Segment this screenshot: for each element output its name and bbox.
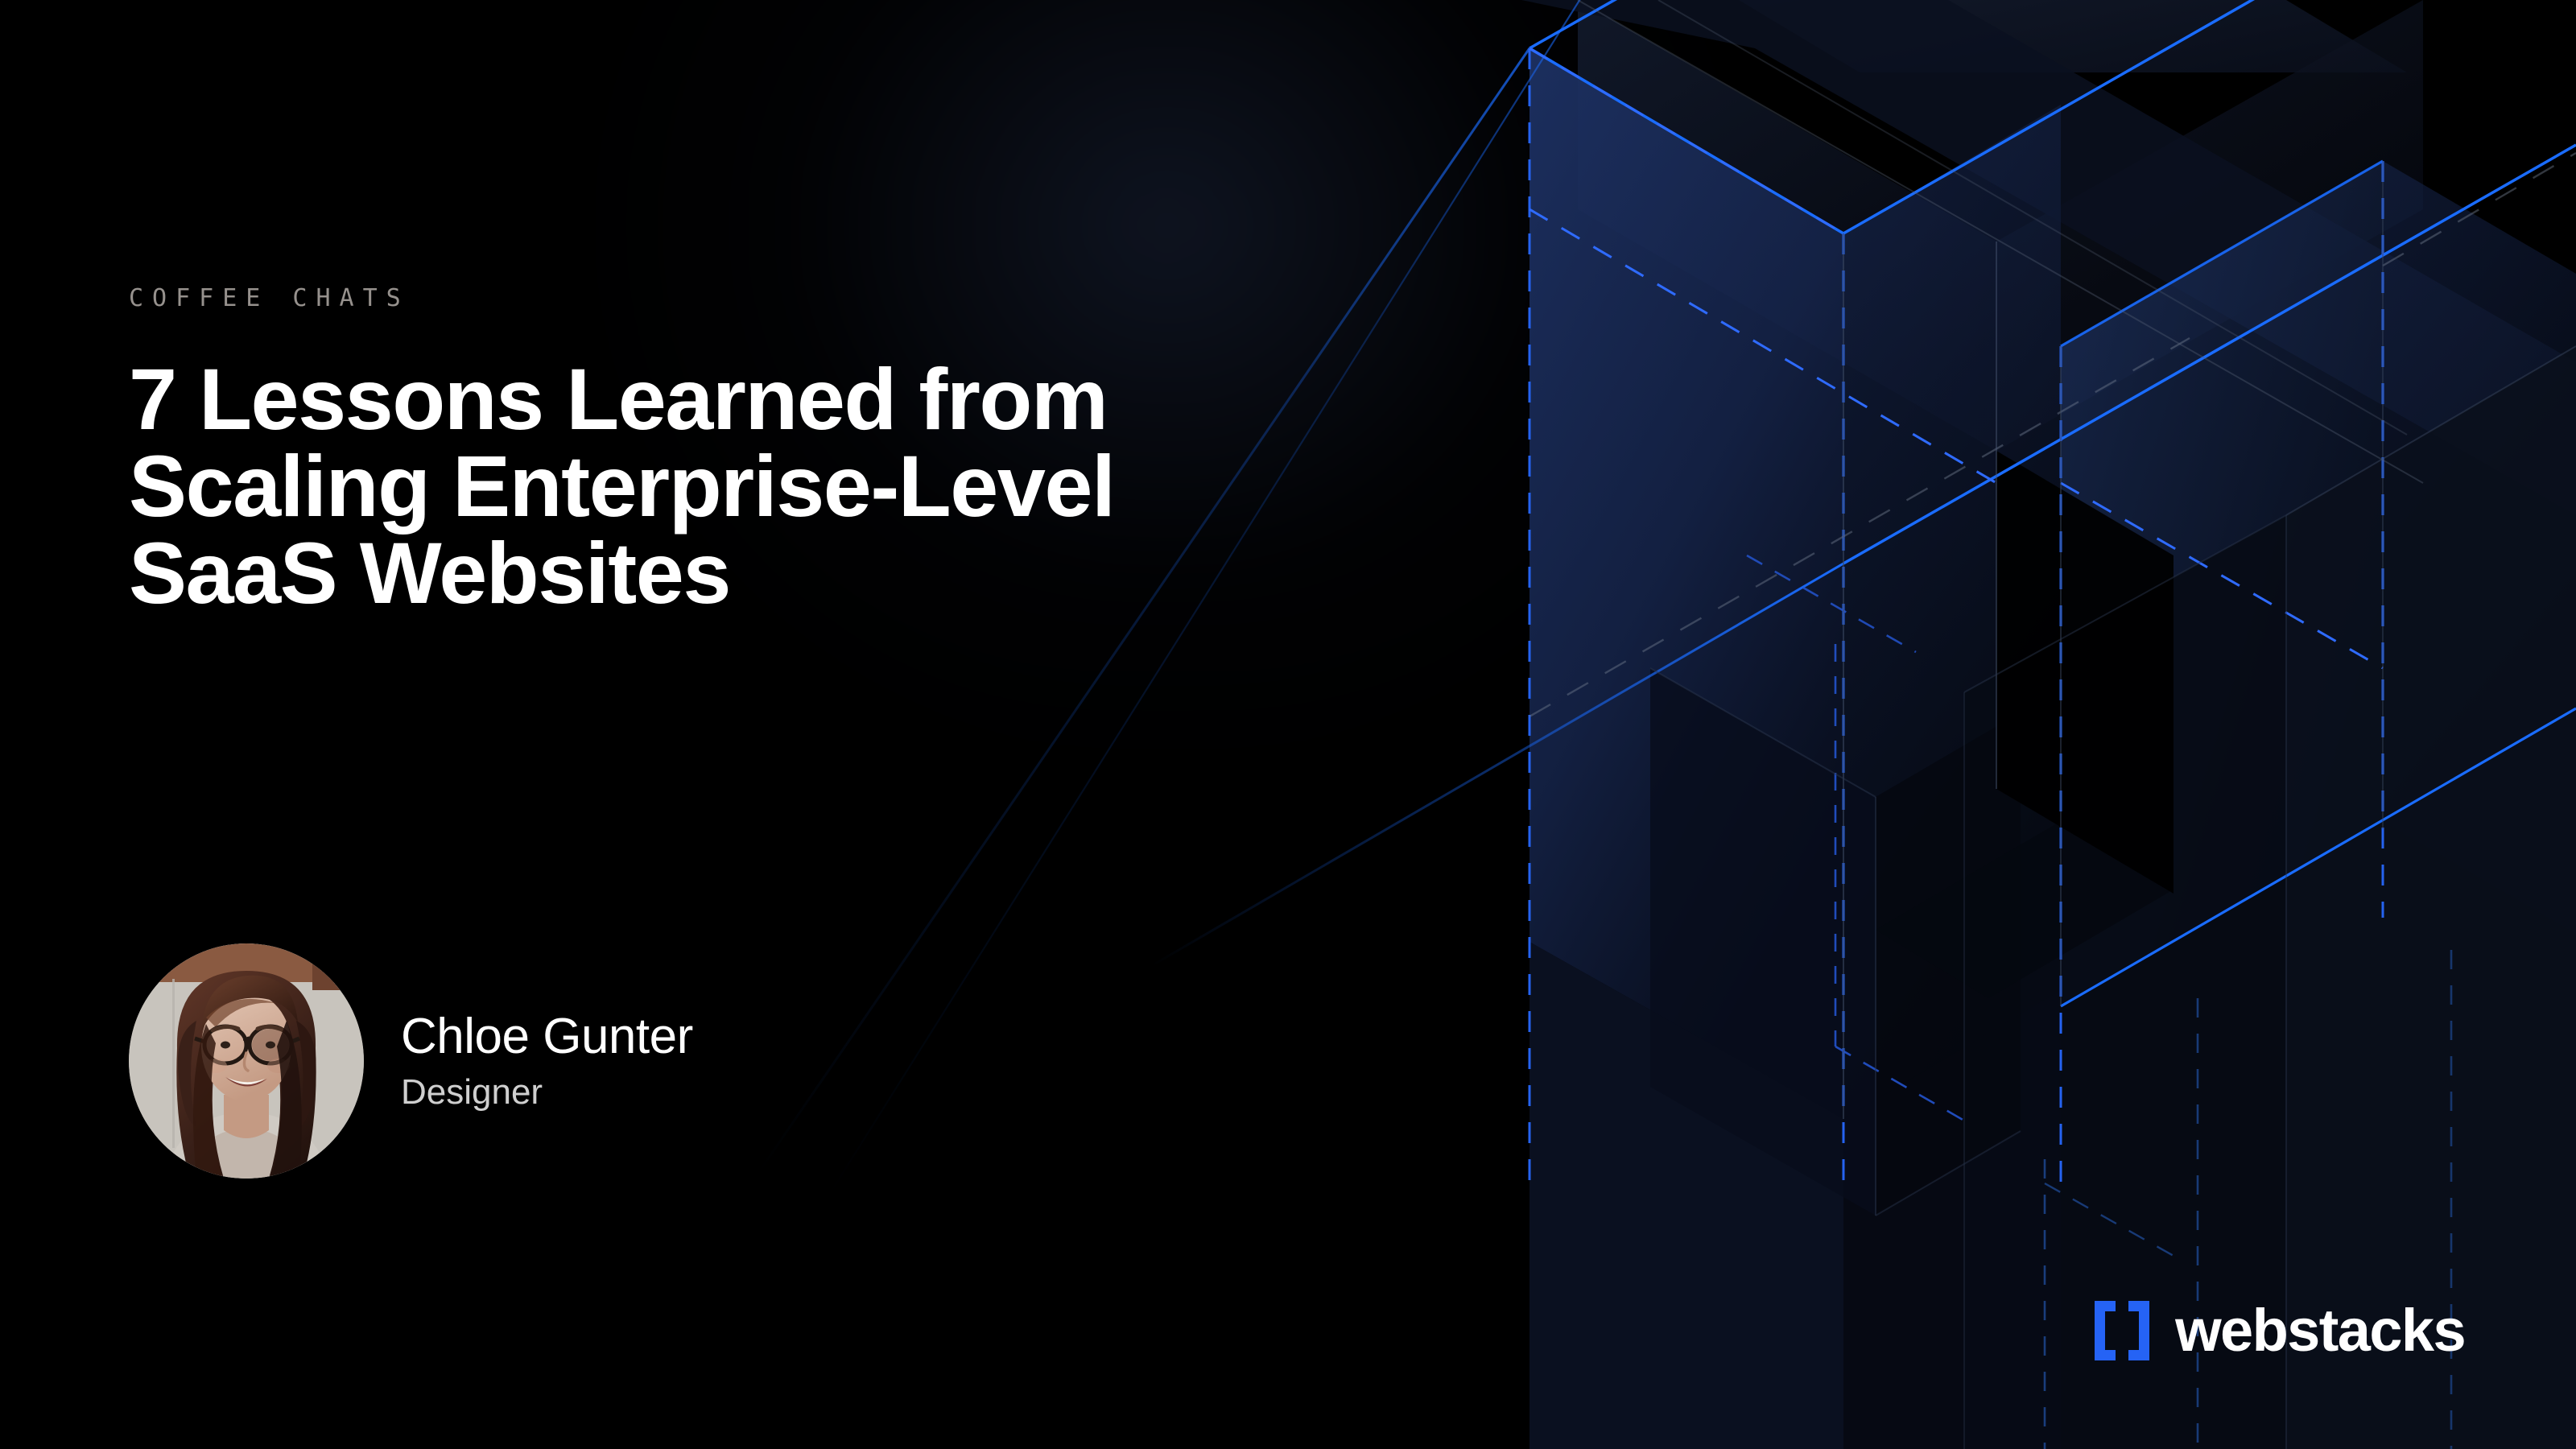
blog-hero-card: COFFEE CHATS 7 Lessons Learned from Scal… <box>0 0 2576 1449</box>
headline-line-2: Scaling Enterprise-Level <box>129 443 1529 530</box>
brackets-icon <box>2093 1299 2151 1362</box>
author-block: Chloe Gunter Designer <box>129 943 693 1179</box>
brand-wordmark: webstacks <box>2175 1301 2465 1360</box>
author-role: Designer <box>401 1074 693 1111</box>
hero-content: COFFEE CHATS 7 Lessons Learned from Scal… <box>129 287 1546 617</box>
webstacks-logo[interactable]: webstacks <box>2093 1299 2465 1362</box>
isometric-wireframe-graphic <box>0 0 2576 1449</box>
headline-line-1: 7 Lessons Learned from <box>129 356 1529 443</box>
avatar <box>129 943 364 1179</box>
headline-line-3: SaaS Websites <box>129 530 1529 617</box>
category-eyebrow: COFFEE CHATS <box>129 287 1546 311</box>
author-name: Chloe Gunter <box>401 1010 693 1063</box>
page-title: 7 Lessons Learned from Scaling Enterpris… <box>129 356 1529 617</box>
author-text: Chloe Gunter Designer <box>401 1010 693 1111</box>
